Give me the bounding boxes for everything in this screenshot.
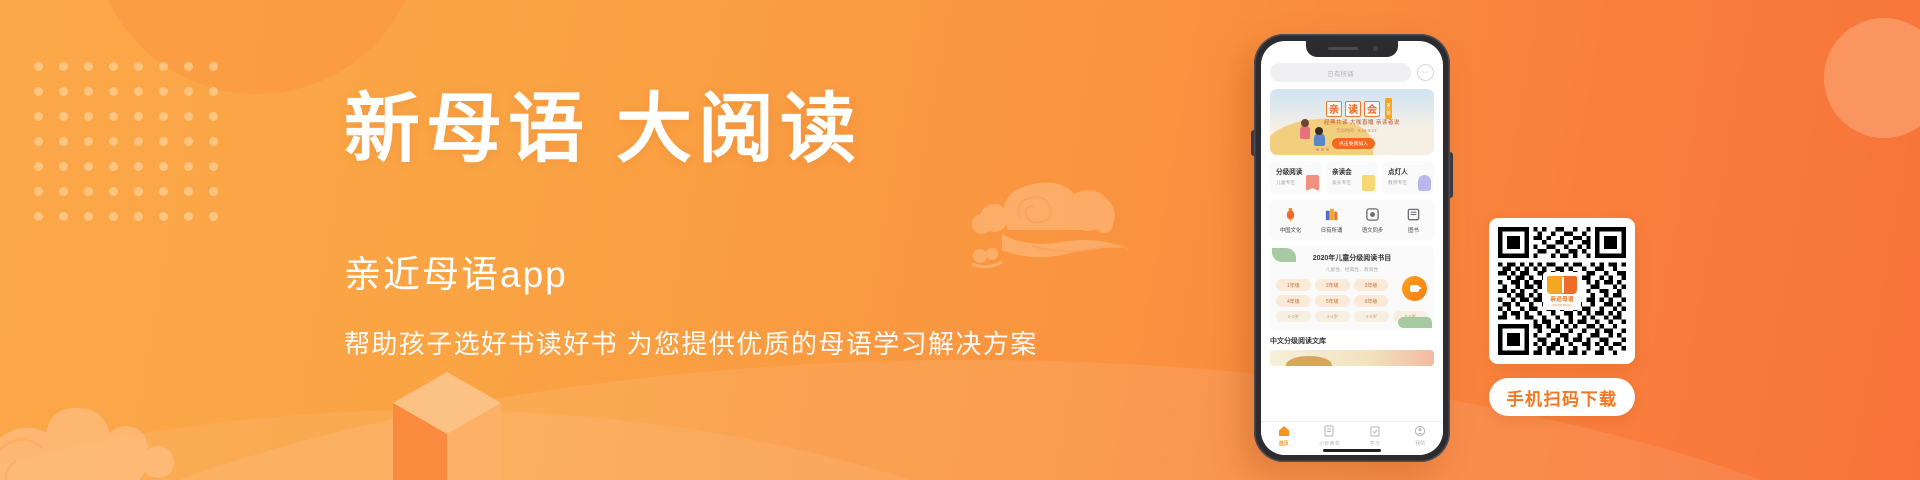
search-input[interactable]: 日有所诵 (1270, 63, 1411, 82)
bookmark-icon (1306, 175, 1319, 191)
promo-banner: 新母语大阅读 亲近母语app 帮助孩子选好书读好书 为您提供优质的母语学习解决方… (0, 0, 1920, 480)
qr-center-logo: 亲近母语 QINJIN MUYU (1543, 272, 1581, 310)
quick-nav-label: 图书 (1408, 226, 1419, 234)
library-thumbnail[interactable] (1270, 350, 1434, 366)
download-button[interactable]: 手机扫码下载 (1489, 378, 1635, 416)
entry-card-graded-reading[interactable]: 分级阅读 儿童专区 (1270, 161, 1322, 194)
grade-chip[interactable]: 6年级 (1354, 295, 1389, 307)
note-icon (1362, 175, 1375, 191)
app-promo-banner[interactable]: 亲 读 会 第六期 经典共读 大咖直播 亲读者说 活动时间：9.16-9.27 … (1270, 89, 1434, 155)
qr-download-block: 亲近母语 QINJIN MUYU 手机扫码下载 (1489, 218, 1635, 416)
book-icon (1406, 207, 1421, 222)
promo-title-char-2: 读 (1345, 101, 1361, 117)
booklist-subtitle: 儿童性、经典性、教育性 (1276, 266, 1428, 273)
grade-chip[interactable]: 1年级 (1276, 279, 1311, 291)
home-icon (1278, 425, 1290, 437)
promo-title-char-3: 会 (1364, 101, 1380, 117)
app-quick-nav: 中国文化 日有所诵 语文同步 (1270, 200, 1434, 240)
check-icon (1369, 425, 1381, 437)
tab-reading[interactable]: 小步读书 (1307, 425, 1353, 447)
quick-nav-label: 中国文化 (1280, 226, 1302, 234)
promo-child-1-head (1301, 119, 1309, 127)
grade-chip-group: 1年级 2年级 3年级 4年级 5年级 6年级 (1276, 279, 1388, 307)
grade-chip[interactable]: 3年级 (1354, 279, 1389, 291)
tab-label: 学习 (1370, 440, 1380, 447)
app-entry-cards: 分级阅读 儿童专区 亲读会 家长专区 点灯人 教师专区 (1270, 161, 1434, 194)
square-icon (1365, 207, 1380, 222)
books-icon (1324, 207, 1339, 222)
quick-nav-item-books[interactable]: 图书 (1393, 207, 1434, 234)
tab-label: 首页 (1279, 440, 1289, 447)
page-title: 新母语大阅读 (344, 86, 1024, 176)
list-icon (1323, 425, 1335, 437)
person-icon (1418, 175, 1431, 191)
message-icon[interactable]: ··· (1417, 64, 1434, 81)
promo-date: 活动时间：9.16-9.27 (1336, 128, 1377, 134)
qr-logo-pinyin: QINJIN MUYU (1552, 304, 1571, 307)
decor-leaf-1 (1272, 248, 1296, 262)
speaker-icon (1328, 47, 1358, 50)
tab-mine[interactable]: 我的 (1398, 425, 1444, 447)
promo-cta-button[interactable]: 点击免费加入 (1332, 138, 1375, 149)
tab-study[interactable]: 学习 (1352, 425, 1398, 447)
decor-dot-grid (34, 62, 234, 237)
age-chip[interactable]: 4-5岁 (1354, 311, 1389, 322)
grade-chip[interactable]: 5年级 (1315, 295, 1350, 307)
promo-child-2-head (1315, 127, 1323, 135)
user-icon (1414, 425, 1426, 437)
app-search-row: 日有所诵 ··· (1270, 63, 1434, 82)
card-title: 分级阅读 (1276, 166, 1317, 176)
promo-side-tag: 第六期 (1385, 98, 1392, 119)
tab-label: 我的 (1415, 440, 1425, 447)
entry-card-reading-club[interactable]: 亲读会 家长专区 (1326, 161, 1378, 194)
booklist-title: 2020年儿童分级阅读书目 (1276, 253, 1428, 263)
video-play-icon[interactable] (1402, 276, 1427, 301)
phone-screen: 日有所诵 ··· 亲 读 会 第六期 经典共读 大咖直播 亲读者说 活动时间：9… (1261, 41, 1443, 455)
quick-nav-item-culture[interactable]: 中国文化 (1270, 207, 1311, 234)
qr-logo-title: 亲近母语 (1550, 295, 1574, 303)
headline-part-1: 新母语 (344, 88, 590, 172)
headline-part-2: 大阅读 (616, 88, 862, 172)
quick-nav-label: 日有所诵 (1321, 226, 1343, 234)
library-title: 中文分级阅读文库 (1270, 336, 1434, 346)
entry-card-lamplighter[interactable]: 点灯人 教师专区 (1382, 161, 1434, 194)
promo-title-char-1: 亲 (1326, 101, 1342, 117)
qr-card: 亲近母语 QINJIN MUYU (1489, 218, 1635, 364)
phone-notch (1306, 41, 1398, 57)
tab-home[interactable]: 首页 (1261, 425, 1307, 447)
decor-circle-top-right (1824, 18, 1920, 138)
open-book-icon (1547, 276, 1577, 294)
grade-chip[interactable]: 2年级 (1315, 279, 1350, 291)
app-name: 亲近母语app (344, 244, 1024, 298)
banner-copy: 新母语大阅读 亲近母语app 帮助孩子选好书读好书 为您提供优质的母语学习解决方… (344, 86, 1024, 361)
quick-nav-item-recite[interactable]: 日有所诵 (1311, 207, 1352, 234)
age-chip[interactable]: 3-4岁 (1315, 311, 1350, 322)
promo-pager[interactable] (1316, 148, 1329, 151)
decor-leaf-2 (1398, 317, 1432, 328)
decor-cube-icon (388, 370, 506, 480)
tagline: 帮助孩子选好书读好书 为您提供优质的母语学习解决方案 (344, 324, 1024, 361)
promo-title: 亲 读 会 第六期 (1326, 98, 1392, 119)
quick-nav-item-sync[interactable]: 语文同步 (1352, 207, 1393, 234)
grade-chip[interactable]: 4年级 (1276, 295, 1311, 307)
lantern-icon (1283, 207, 1298, 222)
home-indicator (1323, 449, 1381, 452)
app-booklist-module: 2020年儿童分级阅读书目 儿童性、经典性、教育性 1年级 2年级 3年级 4年… (1270, 246, 1434, 330)
promo-child-1 (1300, 125, 1310, 139)
qr-code[interactable]: 亲近母语 QINJIN MUYU (1498, 227, 1626, 355)
phone-mockup: 日有所诵 ··· 亲 读 会 第六期 经典共读 大咖直播 亲读者说 活动时间：9… (1254, 34, 1450, 462)
age-chip[interactable]: 0-3岁 (1276, 311, 1311, 322)
library-thumb-shape (1286, 356, 1332, 366)
quick-nav-label: 语文同步 (1362, 226, 1384, 234)
promo-subtitle: 经典共读 大咖直播 亲读者说 (1324, 118, 1400, 126)
decor-cloud-left-icon (0, 344, 238, 480)
camera-icon (1373, 46, 1378, 51)
tab-label: 小步读书 (1319, 440, 1339, 447)
